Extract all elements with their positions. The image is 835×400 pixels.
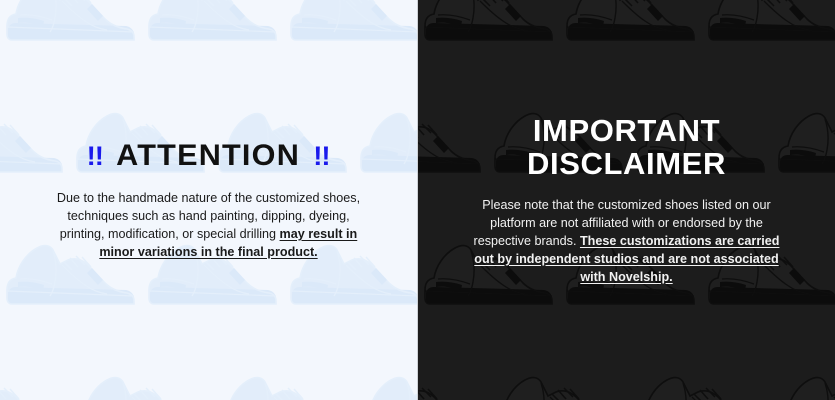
attention-content: !! ATTENTION !! Due to the handmade natu…: [0, 0, 417, 400]
disclaimer-panel: IMPORTANT DISCLAIMER Please note that th…: [417, 0, 835, 400]
attention-body: Due to the handmade nature of the custom…: [53, 189, 365, 261]
dual-notice-banner: !! ATTENTION !! Due to the handmade natu…: [0, 0, 835, 400]
disclaimer-heading-line1: IMPORTANT: [533, 113, 720, 148]
disclaimer-heading: IMPORTANT DISCLAIMER: [527, 114, 726, 180]
disclaimer-content: IMPORTANT DISCLAIMER Please note that th…: [418, 0, 835, 400]
attention-panel: !! ATTENTION !! Due to the handmade natu…: [0, 0, 417, 400]
attention-heading: !! ATTENTION !!: [87, 139, 330, 173]
attention-title-text: ATTENTION: [117, 139, 301, 173]
exclaim-right-icon: !!: [314, 139, 330, 173]
panel-divider: [417, 0, 418, 400]
disclaimer-body: Please note that the customized shoes li…: [466, 196, 788, 286]
exclaim-left-icon: !!: [87, 139, 103, 173]
disclaimer-heading-line2: DISCLAIMER: [527, 147, 726, 180]
